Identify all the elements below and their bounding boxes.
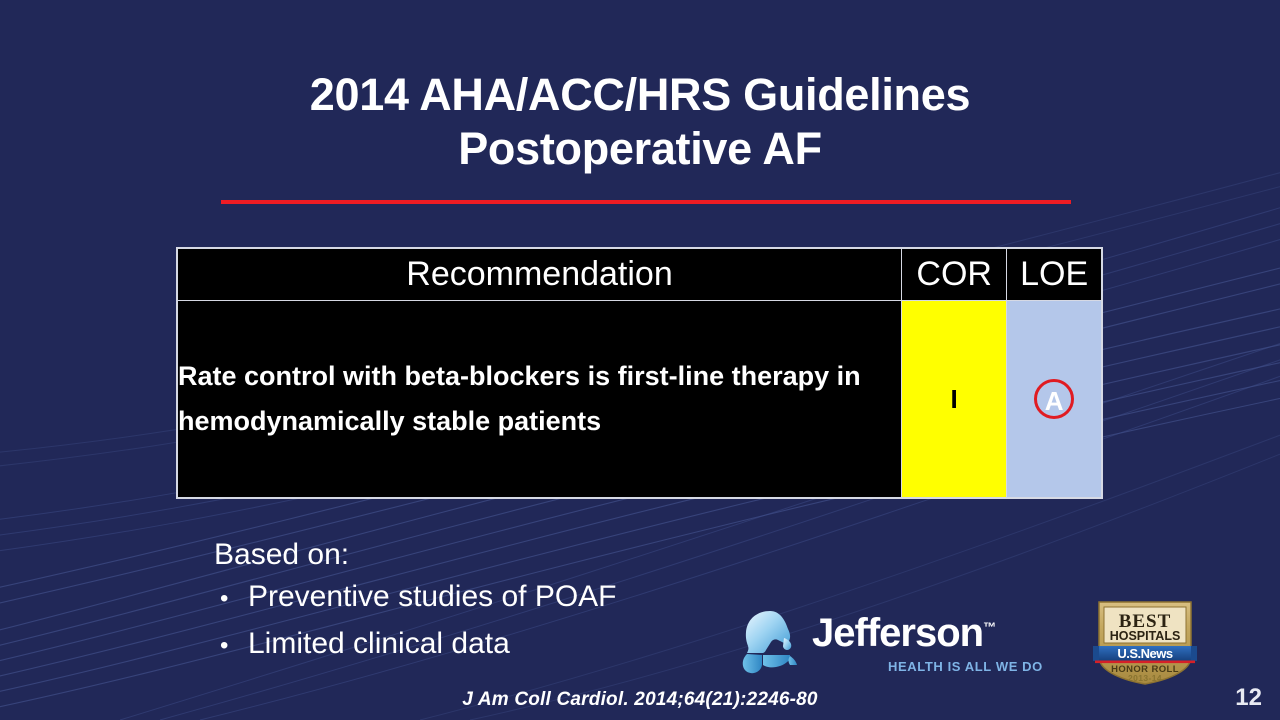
column-header-cor: COR [902, 248, 1007, 301]
svg-text:2013-14: 2013-14 [1128, 673, 1162, 683]
table-header-row: Recommendation COR LOE [177, 248, 1102, 301]
list-item-label: Preventive studies of POAF [248, 574, 617, 619]
bullet-icon: • [220, 576, 248, 621]
list-item: • Preventive studies of POAF [220, 574, 617, 621]
citation-text: J Am Coll Cardiol. 2014;64(21):2246-80 [0, 689, 1280, 711]
cell-loe-value: A [1007, 301, 1102, 499]
slide-canvas: 2014 AHA/ACC/HRS Guidelines Postoperativ… [0, 0, 1280, 720]
loe-circle-badge: A [1034, 379, 1074, 419]
list-item: • Limited clinical data [220, 621, 617, 668]
list-item-label: Limited clinical data [248, 621, 510, 666]
column-header-loe: LOE [1007, 248, 1102, 301]
badge-shield-icon: BEST HOSPITALS U.S.News HONOR ROLL 2013-… [1093, 601, 1197, 685]
based-on-block: Based on: • Preventive studies of POAF •… [214, 535, 617, 668]
column-header-recommendation: Recommendation [177, 248, 902, 301]
title-line-2: Postoperative AF [0, 122, 1280, 176]
usnews-best-hospitals-badge: BEST HOSPITALS U.S.News HONOR ROLL 2013-… [1093, 601, 1197, 685]
page-title: 2014 AHA/ACC/HRS Guidelines Postoperativ… [0, 68, 1280, 176]
page-number: 12 [1235, 684, 1262, 712]
jefferson-logo: Jefferson™ HEALTH IS ALL WE DO [740, 607, 1050, 679]
jefferson-head-silhouette-icon [740, 609, 808, 675]
jefferson-wordmark-text: Jefferson [812, 611, 983, 655]
table-row: Rate control with beta-blockers is first… [177, 301, 1102, 499]
bullet-icon: • [220, 623, 248, 668]
title-line-1: 2014 AHA/ACC/HRS Guidelines [0, 68, 1280, 122]
jefferson-tagline: HEALTH IS ALL WE DO [888, 659, 1043, 674]
title-underline-rule [221, 200, 1071, 204]
cell-cor-value: I [902, 301, 1007, 499]
trademark-symbol: ™ [983, 620, 996, 635]
cell-recommendation-text: Rate control with beta-blockers is first… [177, 301, 902, 499]
recommendation-table: Recommendation COR LOE Rate control with… [176, 247, 1103, 499]
svg-text:U.S.News: U.S.News [1117, 646, 1173, 661]
jefferson-wordmark: Jefferson™ [812, 611, 996, 656]
based-on-heading: Based on: [214, 535, 617, 574]
svg-text:HOSPITALS: HOSPITALS [1110, 629, 1181, 643]
